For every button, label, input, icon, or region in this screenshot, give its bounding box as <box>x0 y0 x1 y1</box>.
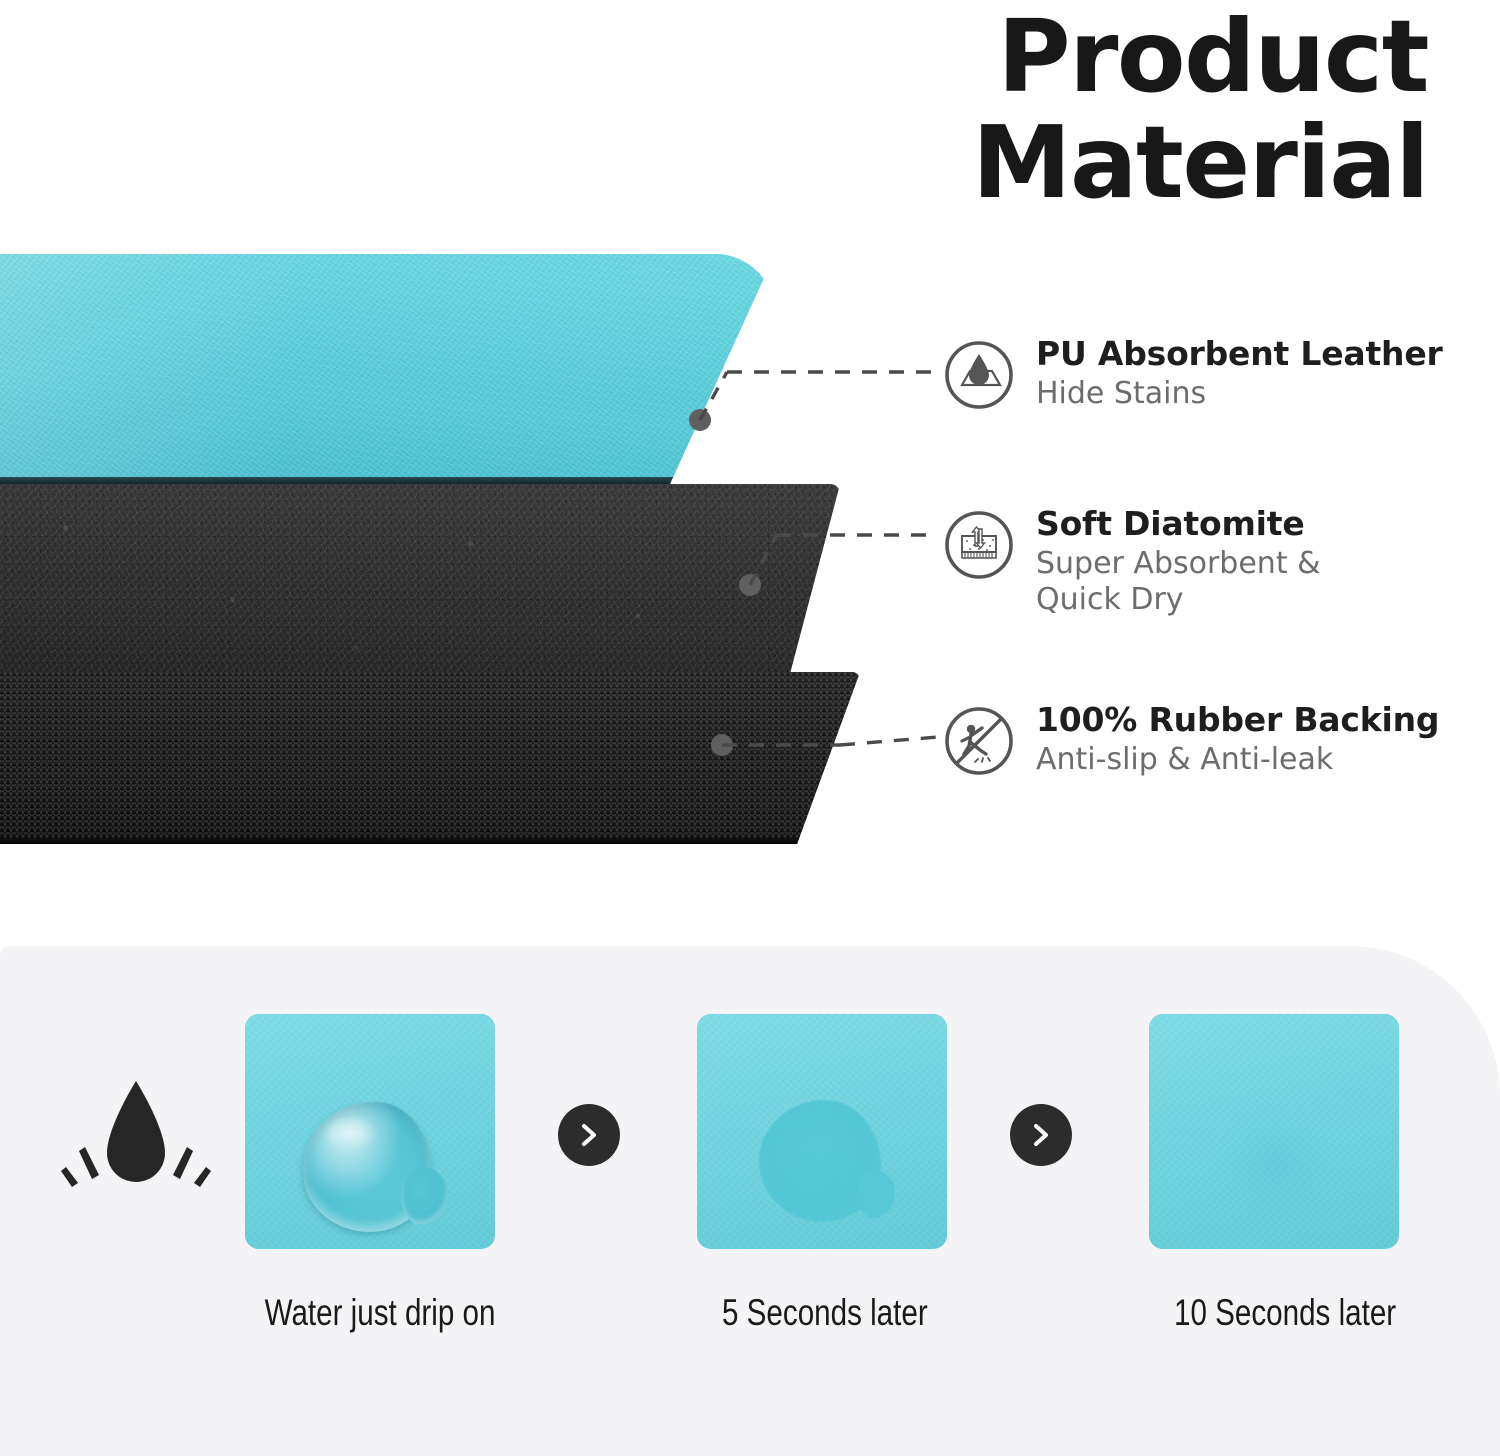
callout-pu-absorbent-leather: PU Absorbent Leather Hide Stains <box>942 334 1443 412</box>
water-puddle-glossy <box>303 1102 431 1232</box>
demo-step-3: 10 Seconds later <box>1149 1014 1399 1334</box>
page-title-line-2: Material <box>608 110 1428 216</box>
pu-absorbent-leather-layer <box>0 254 775 486</box>
callout-3-heading: 100% Rubber Backing <box>1036 702 1439 739</box>
demo-step-1: Water just drip on <box>245 1014 495 1334</box>
page-title-line-1: Product <box>608 0 1428 110</box>
mat-layer-stack <box>0 236 900 806</box>
page-title: Product Material <box>608 0 1428 216</box>
callout-2-text: Soft Diatomite Super Absorbent & Quick D… <box>1036 504 1321 618</box>
callout-1-sub: Hide Stains <box>1036 376 1443 412</box>
water-drop-on-mat-icon <box>942 338 1016 412</box>
water-puddle-absorbing <box>759 1100 881 1222</box>
absorbent-block-arrows-icon <box>942 508 1016 582</box>
water-splash-drop-icon <box>52 1075 220 1205</box>
soft-diatomite-layer <box>0 484 840 684</box>
demo-step-3-caption: 10 Seconds later <box>1174 1293 1374 1334</box>
chevron-right-glyph <box>576 1122 602 1148</box>
puddle-1-highlight <box>321 1116 379 1150</box>
callout-3-sub: Anti-slip & Anti-leak <box>1036 742 1439 778</box>
chevron-right-icon <box>558 1104 620 1166</box>
callout-1-heading: PU Absorbent Leather <box>1036 336 1443 373</box>
callout-2-sub: Super Absorbent & Quick Dry <box>1036 546 1321 618</box>
chevron-right-icon-2 <box>1010 1104 1072 1166</box>
demo-tile-2 <box>697 1014 947 1249</box>
callout-2-heading: Soft Diatomite <box>1036 506 1321 543</box>
demo-tile-3 <box>1149 1014 1399 1249</box>
rubber-layer-edge <box>0 838 860 844</box>
water-puddle-dry <box>1221 1110 1329 1214</box>
no-slip-falling-person-icon <box>942 704 1016 778</box>
callout-3-text: 100% Rubber Backing Anti-slip & Anti-lea… <box>1036 700 1439 778</box>
callout-soft-diatomite: Soft Diatomite Super Absorbent & Quick D… <box>942 504 1321 618</box>
demo-tile-1 <box>245 1014 495 1249</box>
rubber-layer-weave-texture <box>0 672 860 844</box>
demo-step-2-caption: 5 Seconds later <box>722 1293 922 1334</box>
diatomite-layer-grain-texture <box>0 484 840 684</box>
rubber-backing-layer <box>0 672 860 844</box>
demo-step-1-caption: Water just drip on <box>265 1293 470 1334</box>
callout-1-text: PU Absorbent Leather Hide Stains <box>1036 334 1443 412</box>
demo-step-2: 5 Seconds later <box>697 1014 947 1334</box>
callout-rubber-backing: 100% Rubber Backing Anti-slip & Anti-lea… <box>942 700 1439 778</box>
chevron-right-glyph-2 <box>1028 1122 1054 1148</box>
pu-layer-grain-texture <box>0 254 775 486</box>
